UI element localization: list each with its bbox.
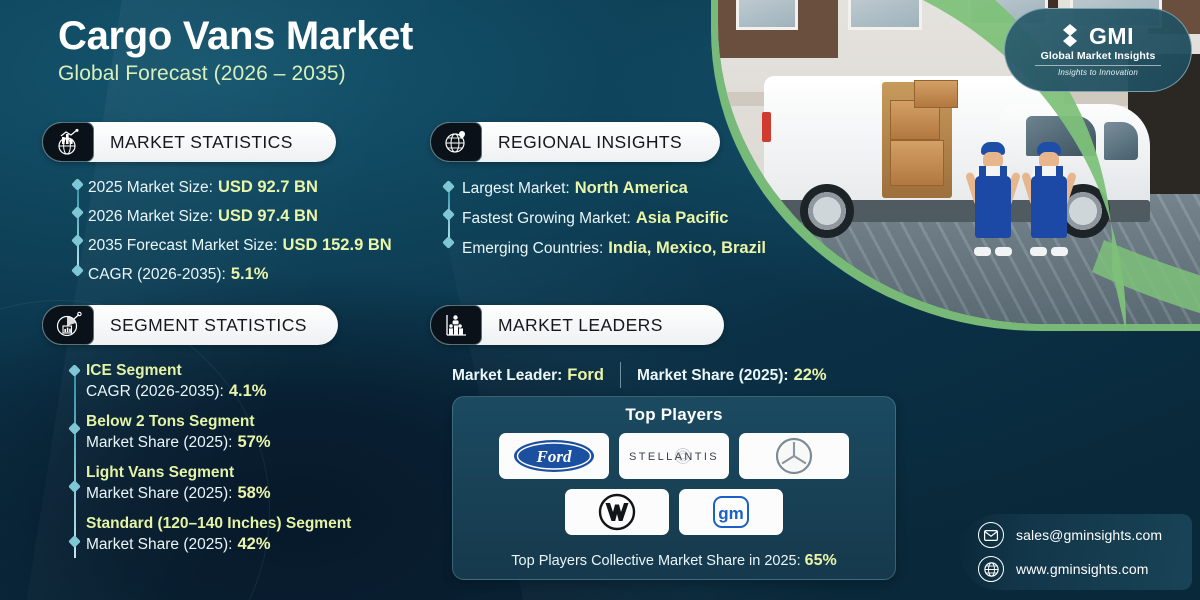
top-players-title: Top Players: [453, 405, 895, 425]
svg-text:Ford: Ford: [536, 447, 572, 466]
gm-logo[interactable]: gm: [679, 489, 783, 535]
logo-grid: Ford STELLANTIS: [453, 433, 895, 535]
stat-label: 2035 Forecast Market Size:: [88, 237, 278, 255]
segment-block: Standard (120–140 Inches) Segment Market…: [86, 515, 351, 554]
globe-chart-icon: [42, 122, 94, 162]
segment-heading: Standard (120–140 Inches) Segment: [86, 515, 351, 533]
section-title: MARKET LEADERS: [482, 315, 663, 336]
gmi-divider: [1035, 65, 1161, 66]
section-title: MARKET STATISTICS: [94, 132, 293, 153]
segment-statistics-list: ICE Segment CAGR (2026-2035): 4.1% Below…: [86, 362, 351, 566]
segment-value: 58%: [237, 484, 270, 503]
market-statistics-list: 2025 Market Size: USD 92.7 BN 2026 Marke…: [88, 178, 392, 294]
segment-label: CAGR (2026-2035):: [86, 383, 224, 401]
market-leader-row: Market Leader: Ford: [452, 366, 604, 385]
segment-label: Market Share (2025):: [86, 485, 232, 503]
section-header-segment-statistics: SEGMENT STATISTICS: [42, 305, 338, 345]
segment-block: ICE Segment CAGR (2026-2035): 4.1%: [86, 362, 351, 401]
stat-label: 2025 Market Size:: [88, 179, 213, 197]
mercedes-benz-logo[interactable]: [739, 433, 849, 479]
region-row: Emerging Countries: India, Mexico, Brazi…: [462, 239, 766, 258]
volkswagen-logo-glyph: [597, 492, 637, 532]
volkswagen-logo[interactable]: [565, 489, 669, 535]
infographic-canvas: GMI Global Market Insights Insights to I…: [0, 0, 1200, 600]
contact-panel: sales@gminsights.com www.gminsights.com: [960, 514, 1192, 590]
stat-row: 2026 Market Size: USD 97.4 BN: [88, 207, 392, 226]
page-subtitle: Global Forecast (2026 – 2035): [58, 62, 346, 86]
segment-heading: Light Vans Segment: [86, 464, 351, 482]
timeline-rail: [74, 370, 76, 558]
market-share-row: Market Share (2025): 22%: [637, 366, 827, 385]
gmi-diamond-icon: [1062, 23, 1084, 49]
divider: [620, 362, 621, 388]
gmi-logo: GMI Global Market Insights Insights to I…: [1004, 8, 1192, 92]
gmi-logo-top: GMI: [1062, 23, 1134, 49]
donut-chart-icon: [42, 305, 94, 345]
segment-row: Market Share (2025): 58%: [86, 484, 351, 503]
stat-row: 2025 Market Size: USD 92.7 BN: [88, 178, 392, 197]
segment-heading: Below 2 Tons Segment: [86, 413, 351, 431]
stat-row: 2035 Forecast Market Size: USD 152.9 BN: [88, 236, 392, 255]
regional-insights-list: Largest Market: North America Fastest Gr…: [462, 179, 766, 269]
email-row[interactable]: sales@gminsights.com: [978, 522, 1192, 548]
stat-label: 2026 Market Size:: [88, 208, 213, 226]
region-row: Largest Market: North America: [462, 179, 766, 198]
collective-label: Top Players Collective Market Share in 2…: [511, 553, 800, 569]
gmi-tagline: Insights to Innovation: [1058, 68, 1138, 77]
segment-label: Market Share (2025):: [86, 536, 232, 554]
stat-value: 5.1%: [231, 265, 269, 284]
email-text: sales@gminsights.com: [1016, 527, 1162, 543]
region-label: Fastest Growing Market:: [462, 210, 631, 228]
segment-label: Market Share (2025):: [86, 434, 232, 452]
ford-logo-glyph: Ford: [512, 438, 596, 474]
stat-value: USD 152.9 BN: [283, 236, 392, 255]
stat-value: USD 97.4 BN: [218, 207, 318, 226]
stat-value: USD 92.7 BN: [218, 178, 318, 197]
region-value: North America: [575, 179, 688, 198]
stellantis-logo[interactable]: STELLANTIS: [619, 433, 729, 479]
segment-value: 4.1%: [229, 382, 267, 401]
section-title: REGIONAL INSIGHTS: [482, 132, 682, 153]
collective-value: 65%: [805, 552, 837, 569]
segment-row: Market Share (2025): 57%: [86, 433, 351, 452]
market-leader-value: Ford: [567, 366, 604, 385]
region-value: India, Mexico, Brazil: [608, 239, 766, 258]
envelope-icon: [978, 522, 1004, 548]
timeline-rail: [77, 184, 79, 272]
ford-logo[interactable]: Ford: [499, 433, 609, 479]
globe-icon: [978, 556, 1004, 582]
region-value: Asia Pacific: [636, 209, 729, 228]
website-row[interactable]: www.gminsights.com: [978, 556, 1192, 582]
gmi-fullname: Global Market Insights: [1041, 50, 1156, 62]
segment-row: CAGR (2026-2035): 4.1%: [86, 382, 351, 401]
stat-row: CAGR (2026-2035): 5.1%: [88, 265, 392, 284]
segment-row: Market Share (2025): 42%: [86, 535, 351, 554]
market-leader-summary: Market Leader: Ford Market Share (2025):…: [452, 362, 852, 388]
worker-figure: [970, 142, 1016, 250]
market-leader-label: Market Leader:: [452, 367, 562, 385]
segment-value: 57%: [237, 433, 270, 452]
stellantis-logo-glyph: STELLANTIS: [624, 443, 724, 469]
page-title: Cargo Vans Market: [58, 14, 413, 59]
segment-heading: ICE Segment: [86, 362, 351, 380]
section-header-market-leaders: MARKET LEADERS: [430, 305, 724, 345]
region-label: Emerging Countries:: [462, 240, 603, 258]
cargo-van: [764, 73, 1164, 238]
region-label: Largest Market:: [462, 180, 570, 198]
segment-value: 42%: [237, 535, 270, 554]
section-title: SEGMENT STATISTICS: [94, 315, 307, 336]
globe-pin-icon: [430, 122, 482, 162]
segment-block: Light Vans Segment Market Share (2025): …: [86, 464, 351, 503]
segment-block: Below 2 Tons Segment Market Share (2025)…: [86, 413, 351, 452]
market-share-value: 22%: [794, 366, 827, 385]
top-players-panel: Top Players Ford STELLANTIS: [452, 396, 896, 580]
section-header-regional-insights: REGIONAL INSIGHTS: [430, 122, 720, 162]
stat-label: CAGR (2026-2035):: [88, 266, 226, 284]
section-header-market-statistics: MARKET STATISTICS: [42, 122, 336, 162]
market-share-label: Market Share (2025):: [637, 367, 789, 385]
region-row: Fastest Growing Market: Asia Pacific: [462, 209, 766, 228]
svg-text:gm: gm: [718, 504, 744, 523]
gmi-abbrev: GMI: [1089, 25, 1134, 48]
podium-icon: [430, 305, 482, 345]
svg-text:STELLANTIS: STELLANTIS: [629, 451, 719, 463]
mercedes-benz-logo-glyph: [774, 436, 814, 476]
worker-figure: [1026, 142, 1072, 250]
website-text: www.gminsights.com: [1016, 561, 1149, 577]
collective-share: Top Players Collective Market Share in 2…: [453, 552, 895, 570]
gm-logo-glyph: gm: [709, 494, 753, 530]
